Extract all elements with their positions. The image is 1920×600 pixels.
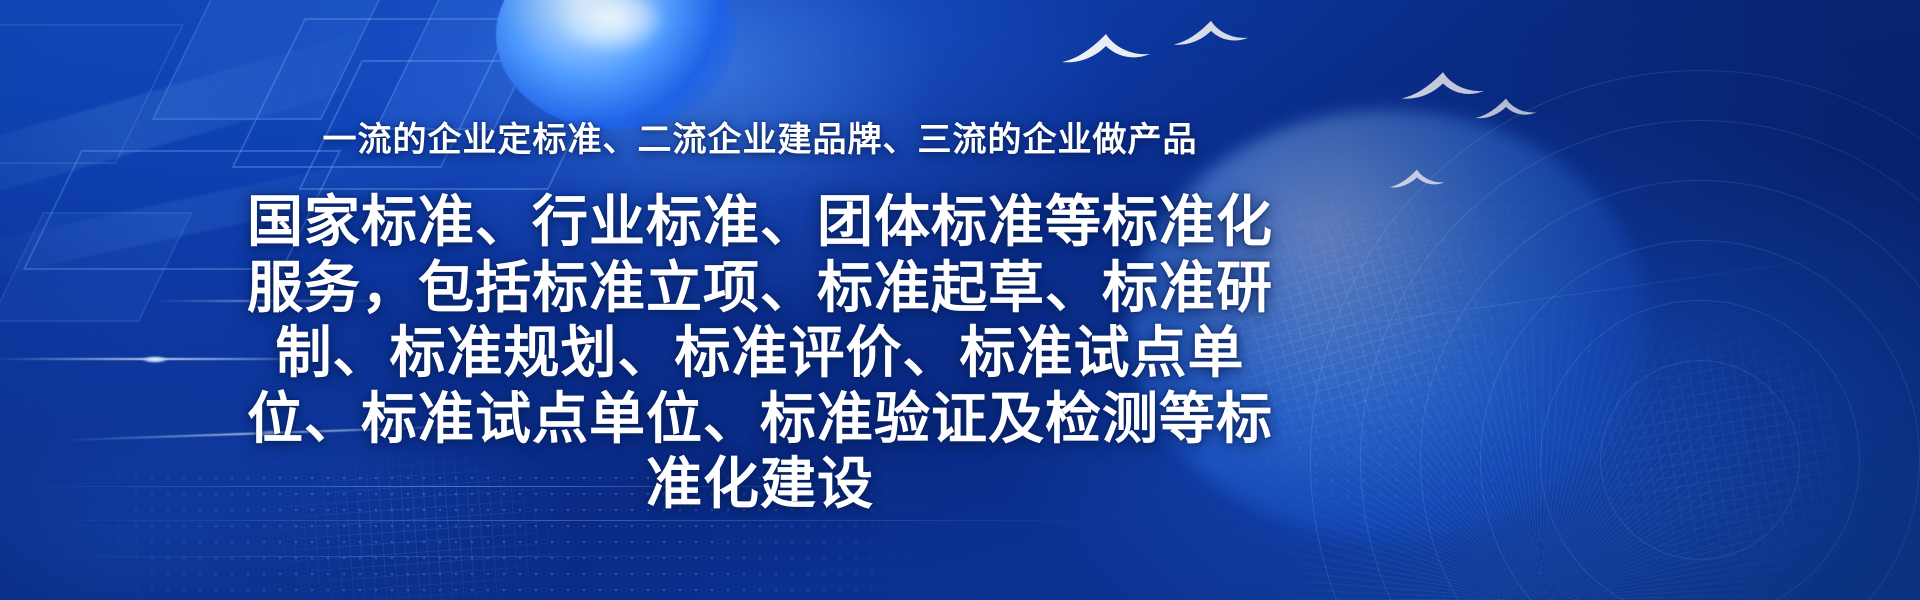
banner-body-text: 国家标准、行业标准、团体标准等标准化服务，包括标准立项、标准起草、标准研制、标准…	[245, 189, 1275, 517]
tech-grid-icon	[1536, 274, 1913, 600]
promo-banner: 一流的企业定标准、二流企业建品牌、三流的企业做产品 国家标准、行业标准、团体标准…	[0, 0, 1920, 600]
banner-headline: 一流的企业定标准、二流企业建品牌、三流的企业做产品	[323, 112, 1198, 161]
banner-content: 一流的企业定标准、二流企业建品牌、三流的企业做产品 国家标准、行业标准、团体标准…	[0, 0, 1520, 600]
